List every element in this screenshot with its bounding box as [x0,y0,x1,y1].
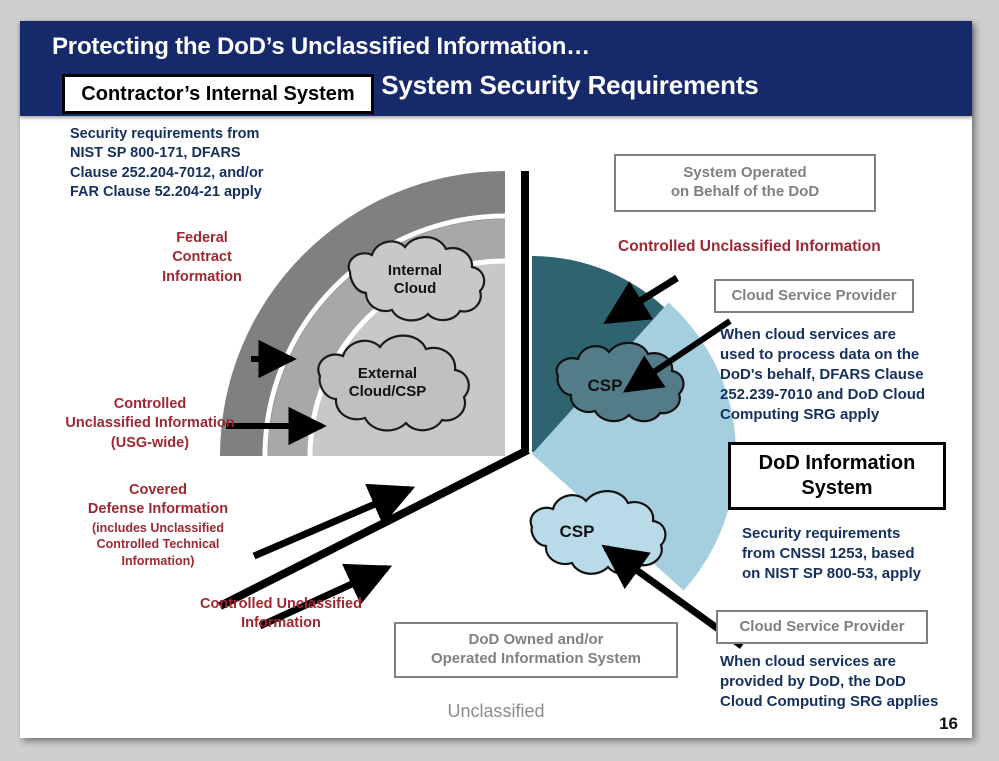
label-controlled-unclassified-information-top: Controlled Unclassified Information [618,237,928,258]
callout-covered-defense-information: Covered Defense Information (includes Un… [60,481,256,569]
csp-top-body-text: When cloud services are used to process … [720,325,976,425]
dod-information-system-body: Security requirements from CNSSI 1253, b… [742,524,980,584]
teal-csp-label: CSP [560,376,650,396]
contractor-internal-system-box[interactable]: Contractor’s Internal System [62,74,374,114]
external-cloud-label: External Cloud/CSP [320,365,455,401]
system-operated-on-behalf-box[interactable]: System Operated on Behalf of the DoD [614,154,876,212]
diagonal-divider-line [220,450,528,606]
cloud-service-provider-box-bottom[interactable]: Cloud Service Provider [716,610,928,644]
callout-controlled-unclassified-information-usg: Controlled Unclassified Information (USG… [42,395,258,453]
contractor-requirements-text: Security requirements from NIST SP 800-1… [70,125,338,202]
blue-csp-label: CSP [532,522,622,542]
callout-cui-bottom: Controlled Unclassified Information [170,595,392,634]
internal-cloud-label: Internal Cloud [360,262,470,298]
callout-federal-contract-information: Federal Contract Information [138,229,266,287]
classification-marking: Unclassified [20,701,972,722]
dod-owned-operated-box[interactable]: DoD Owned and/or Operated Information Sy… [394,622,678,678]
header-title-line1: Protecting the DoD’s Unclassified Inform… [52,33,590,61]
dod-information-system-box[interactable]: DoD Information System [728,442,946,510]
page-number: 16 [939,714,958,734]
cloud-service-provider-box-top[interactable]: Cloud Service Provider [714,279,914,313]
slide: Protecting the DoD’s Unclassified Inform… [20,21,972,738]
